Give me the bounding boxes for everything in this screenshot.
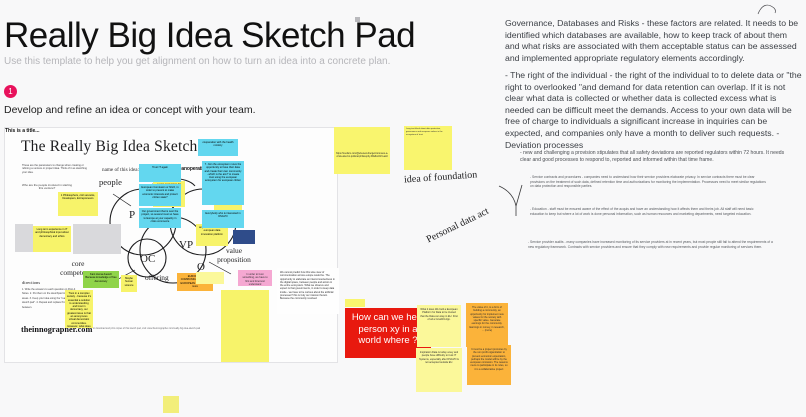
sticky-note-cyan-trust[interactable]: Trust IT again — [139, 164, 181, 182]
sticky-note-cyan-eu-commission-text: European Comission or NGO, in order to p… — [139, 184, 181, 201]
rights-paragraph: - The right of the individual - the righ… — [505, 70, 805, 151]
sticky-note-cyan-ecosystem-text: 7. Join the ecosystem move the opportuni… — [202, 161, 244, 185]
step-instruction-text: Develop and refine an idea or concept wi… — [4, 104, 256, 116]
sticky-note-blue-card[interactable] — [233, 230, 255, 244]
sticky-note-understand[interactable]: In order to trust something, we have to … — [238, 270, 272, 286]
sticky-note-philosophers-text: 1 Philosophers, civil servants, Develope… — [58, 192, 98, 203]
sticky-note-cyan-gov[interactable]: Our government that is over the project,… — [139, 208, 181, 228]
sticky-note-right-column[interactable]: Long text block about data protection, g… — [404, 126, 452, 170]
sticky-note-grey-mid[interactable] — [73, 224, 121, 254]
service-contracts-paragraph: - Service contracts and procedures - com… — [530, 175, 770, 189]
sticky-note-green-core-text: Kant Huma duesch Because knowledge of fr… — [83, 271, 119, 285]
sticky-note-project-text: It must be a project promotes by the non… — [467, 345, 511, 374]
governance-paragraph: Governance, Databases and Risks - these … — [505, 18, 803, 64]
sticky-note-value-text: The value of it, to a form of building a… — [466, 303, 508, 335]
sticky-note-stray-bottom[interactable] — [163, 396, 179, 413]
sticky-note-yellow-bottom-left[interactable]: Trust in a complex society - because it'… — [65, 290, 93, 328]
education-paragraph: - Education - staff must be ensured awar… — [530, 207, 760, 216]
sticky-note-yellow-bottom-left-text: Trust in a complex society - because it'… — [65, 290, 93, 328]
board-title: The Really Big Idea Sketch Pad — [21, 138, 225, 156]
page-subtitle: Use this template to help you get alignm… — [4, 56, 390, 67]
sticky-note-grey-left[interactable] — [15, 224, 33, 252]
brand-subtext: to download and print copies of this ske… — [93, 328, 203, 331]
svg-text:OC: OC — [140, 253, 155, 265]
idea-name-label: name of this idea: — [102, 167, 139, 173]
venn-label-people: people — [99, 177, 122, 187]
step-number-badge: 1 — [4, 85, 17, 98]
sticky-note-blue-card-text — [233, 230, 255, 234]
sticky-note-right-column-text: Long text block about data protection, g… — [404, 126, 452, 139]
sticky-note-white-reflection-text: We cannot predict how this wise view of … — [277, 268, 339, 304]
sticky-note-long-yellow[interactable] — [221, 290, 269, 362]
sticky-note-white-reflection[interactable]: We cannot predict how this wise view of … — [277, 268, 339, 314]
sticky-note-inspiration-text: Inspiration Data is today a key and peop… — [416, 348, 462, 367]
sticky-note-grey-left-text — [15, 224, 33, 228]
sticky-note-cyan-everybody[interactable]: Everybody who is interested in DSGVO — [202, 210, 244, 228]
sticky-note-what-it-does[interactable]: What it does We built a European Platfor… — [417, 305, 461, 347]
handwriting-personal-data-act: Personal data act — [425, 206, 491, 246]
sticky-note-understand-text: In order to trust something, we have to … — [238, 270, 272, 286]
svg-text:VP: VP — [179, 239, 193, 251]
sticky-note-cyan-coop[interactable]: cooperation with the health ministry — [198, 139, 238, 156]
title-superscript-mark — [355, 17, 360, 22]
sticky-note-small-marker[interactable] — [345, 299, 365, 307]
sticky-note-long-term-experience[interactable]: Long term experience in IT and philosoph… — [33, 226, 71, 252]
sticky-note-cyan-gov-text: Our government that is over the project,… — [139, 208, 181, 225]
pen-squiggle-icon — [756, 2, 778, 16]
board-people-question: Who are the people involved in starting … — [22, 184, 72, 191]
sticky-note-inspiration[interactable]: Inspiration Data is today a key and peop… — [416, 348, 462, 392]
board-parameters-note: These are the parameters to change when … — [22, 164, 90, 174]
sticky-note-url[interactable]: https://medium.com/@ebenezerberget/coron… — [334, 127, 390, 174]
sticky-note-green-core[interactable]: Kant Huma duesch Because knowledge of fr… — [83, 271, 119, 288]
sticky-note-cyan-trust-text: Trust IT again — [139, 164, 181, 171]
sticky-note-small-top[interactable] — [196, 272, 224, 284]
app-canvas: Really Big Idea Sketch Pad Use this temp… — [0, 0, 806, 417]
sticky-note-cyan-coop-text: cooperation with the health ministry — [198, 139, 238, 150]
sticky-note-cyan-ecosystem[interactable]: 7. Join the ecosystem move the opportuni… — [202, 161, 244, 205]
sticky-note-cyan-eu-commission[interactable]: European Comission or NGO, in order to p… — [139, 184, 181, 206]
sticky-note-what-it-does-text: What it does We built a European Platfor… — [417, 305, 461, 324]
page-title: Really Big Idea Sketch Pad — [4, 16, 415, 56]
svg-text:P: P — [129, 209, 135, 221]
sticky-note-yellow-core-text: Maybe human science — [121, 275, 137, 289]
hand-drawn-arrow-icon — [498, 182, 526, 218]
venn-label-value-proposition: value proposition — [212, 246, 256, 264]
sticky-note-yellow-core[interactable]: Maybe human science — [121, 275, 137, 292]
sticky-note-philosophers[interactable]: 1 Philosophers, civil servants, Develope… — [58, 192, 98, 216]
sticky-note-grey-mid-text — [73, 224, 121, 228]
sticky-note-long-term-experience-text: Long term experience in IT and philosoph… — [33, 226, 71, 240]
directions-title: directions — [22, 280, 40, 285]
venn-idea-title: This is a title... — [5, 128, 337, 134]
handwriting-idea-of-foundation: idea of foundation — [404, 169, 478, 185]
sticky-note-long-yellow-text — [221, 290, 269, 296]
sticky-note-project[interactable]: It must be a project promotes by the non… — [467, 345, 511, 385]
venn-label-offering: offering — [145, 273, 169, 282]
deviation-paragraph: - new and challenging a provision stipul… — [520, 150, 790, 164]
sticky-note-cyan-everybody-text: Everybody who is interested in DSGVO — [202, 210, 244, 221]
service-audits-paragraph: - Service provider audits - many compani… — [528, 240, 773, 249]
sketch-pad-board: The Really Big Idea Sketch Pad These are… — [4, 127, 338, 363]
sticky-note-value[interactable]: The value of it, to a form of building a… — [466, 303, 508, 347]
sticky-note-url-text: https://medium.com/@ebenezerberget/coron… — [334, 127, 390, 159]
